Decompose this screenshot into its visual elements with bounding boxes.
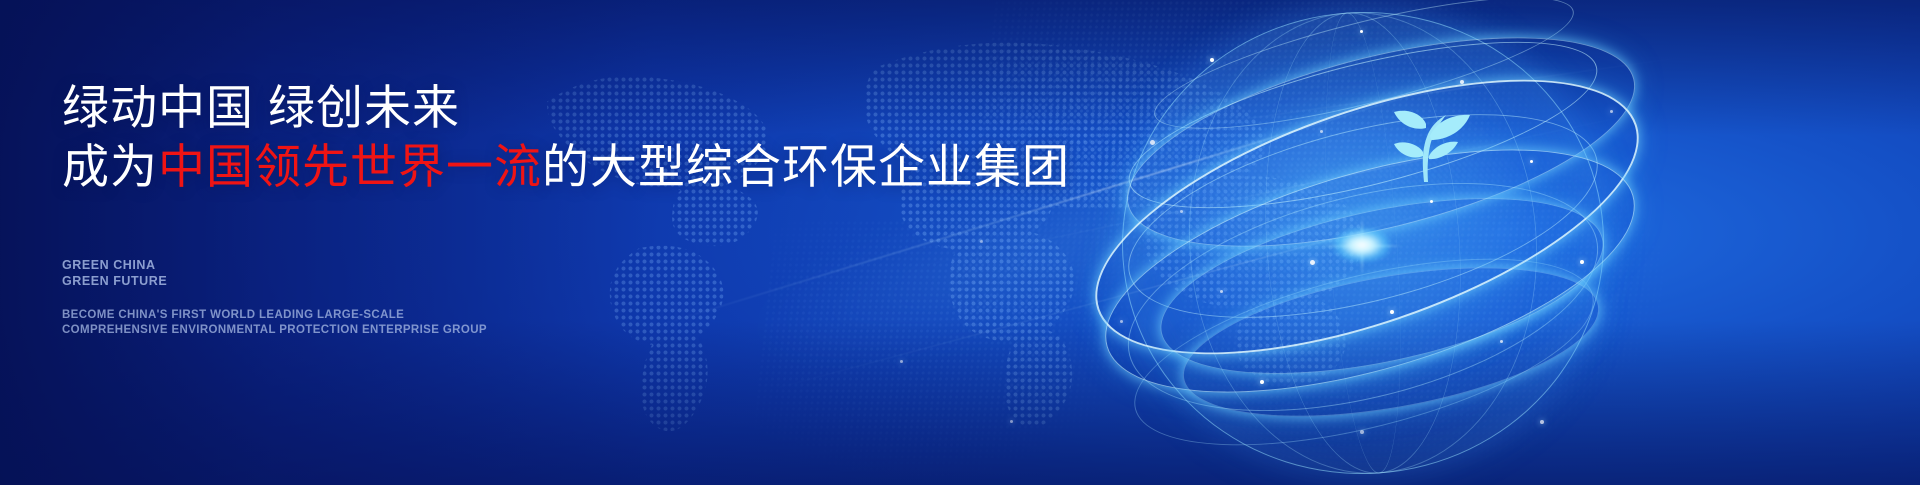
headline-line-2-prefix: 成为 [62,140,158,193]
headline-line-2: 成为中国领先世界一流的大型综合环保企业集团 [62,137,1070,196]
tagline: GREEN CHINA GREEN FUTURE [62,258,167,289]
headline: 绿动中国 绿创未来 成为中国领先世界一流的大型综合环保企业集团 [62,78,1070,196]
headline-line-2-highlight: 中国领先世界一流 [158,140,542,193]
tagline-line-2: GREEN FUTURE [62,274,167,290]
hero-banner: 绿动中国 绿创未来 成为中国领先世界一流的大型综合环保企业集团 GREEN CH… [0,0,1920,485]
subline: BECOME CHINA'S FIRST WORLD LEADING LARGE… [62,308,487,337]
subline-line-2: COMPREHENSIVE ENVIRONMENTAL PROTECTION E… [62,323,487,338]
tagline-line-1: GREEN CHINA [62,258,167,274]
headline-line-1: 绿动中国 绿创未来 [62,78,1070,137]
subline-line-1: BECOME CHINA'S FIRST WORLD LEADING LARGE… [62,308,487,323]
copy-block: 绿动中国 绿创未来 成为中国领先世界一流的大型综合环保企业集团 GREEN CH… [62,0,1062,485]
headline-line-2-suffix: 的大型综合环保企业集团 [542,140,1070,193]
